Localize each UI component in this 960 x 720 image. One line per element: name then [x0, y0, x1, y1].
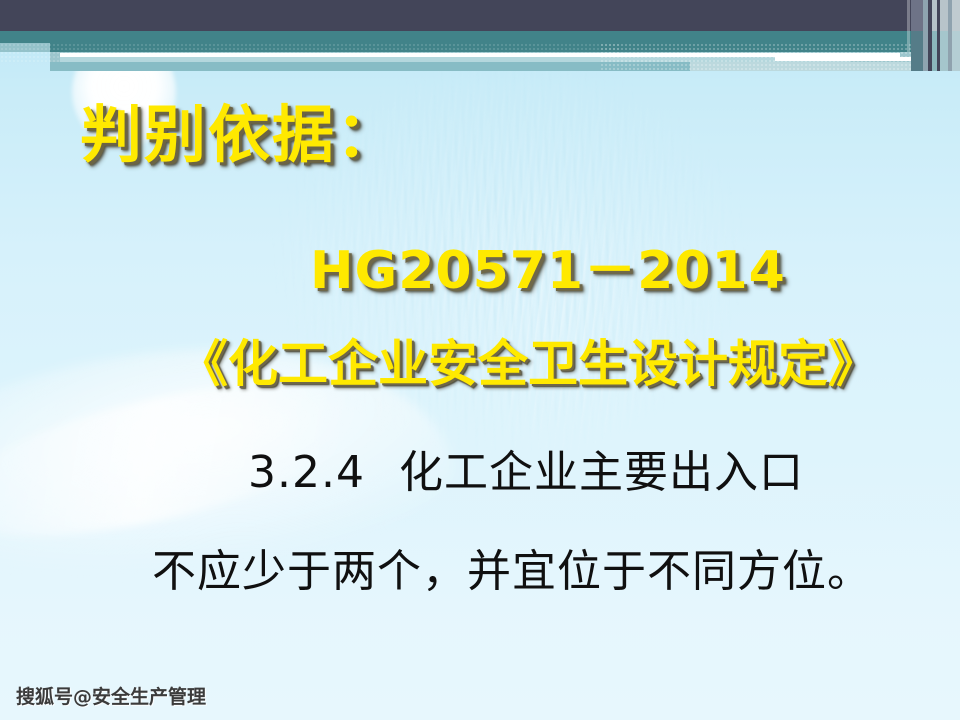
vertical-stripe-tint-3: [940, 31, 948, 71]
clause-line-1: 3.2.4化工企业主要出入口: [248, 436, 804, 500]
clause-text-line-1: 化工企业主要出入口: [399, 447, 804, 498]
vertical-stripe-tint-2: [932, 31, 937, 71]
vertical-stripe-1: [907, 0, 910, 52]
presentation-slide: 判别依据： HG20571－2014 《化工企业安全卫生设计规定》 3.2.4化…: [0, 0, 960, 720]
banner-navy-bar: [0, 0, 960, 31]
vertical-stripe-tint-4: [952, 31, 960, 71]
standard-name: 《化工企业安全卫生设计规定》: [178, 324, 878, 396]
vertical-stripe-tint-1: [911, 31, 923, 71]
slide-title: 判别依据：: [80, 84, 400, 174]
clause-line-2: 不应少于两个，并宜位于不同方位。: [152, 535, 872, 599]
watermark: 搜狐号@安全生产管理: [16, 682, 206, 709]
banner-dot-pattern: [600, 43, 960, 71]
standard-code: HG20571－2014: [310, 228, 786, 303]
clause-number: 3.2.4: [248, 447, 365, 498]
